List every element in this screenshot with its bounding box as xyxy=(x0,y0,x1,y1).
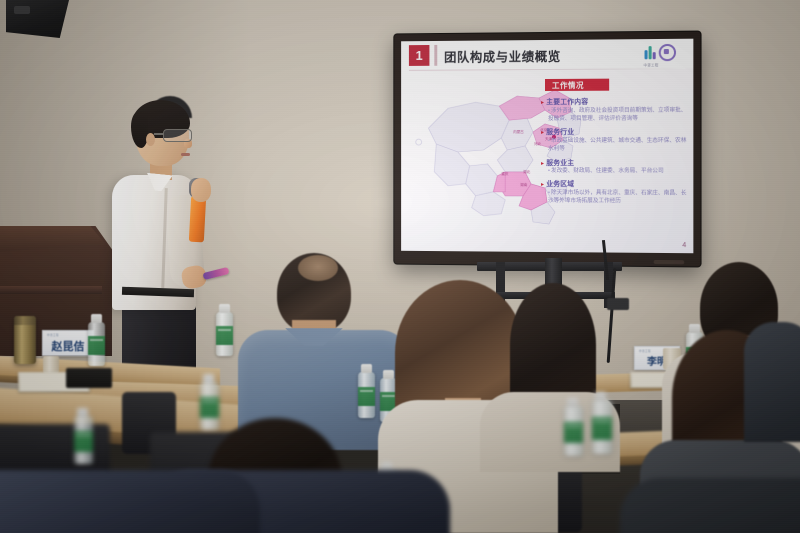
conference-room-photo: 1 团队构成与业绩概览 中咨工程 xyxy=(0,0,800,533)
vignette xyxy=(0,0,800,533)
